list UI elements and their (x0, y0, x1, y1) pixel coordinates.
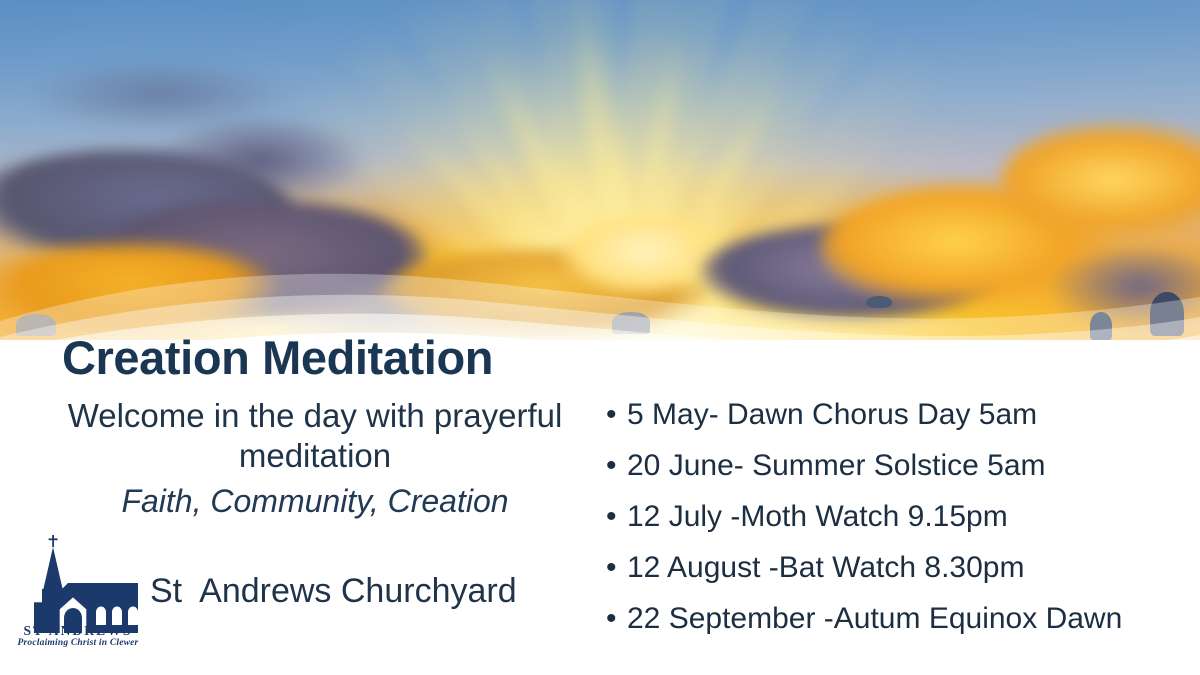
tagline-text: Faith, Community, Creation (22, 481, 608, 521)
venue-text: St Andrews Churchyard (150, 572, 610, 611)
bullet-icon: • (606, 604, 627, 634)
list-item: • 22 September -Autum Equinox Dawn (606, 604, 1200, 634)
list-item-label: 12 August -Bat Watch 8.30pm (627, 553, 1024, 583)
lead-text: Welcome in the day with prayerful medita… (22, 396, 608, 477)
event-list: • 5 May- Dawn Chorus Day 5am • 20 June- … (606, 400, 1200, 655)
list-item-label: 20 June- Summer Solstice 5am (627, 451, 1046, 481)
bullet-icon: • (606, 553, 627, 583)
list-item: • 12 July -Moth Watch 9.15pm (606, 502, 1200, 532)
list-item-label: 12 July -Moth Watch 9.15pm (627, 502, 1008, 532)
list-item: • 5 May- Dawn Chorus Day 5am (606, 400, 1200, 430)
intro-block: Welcome in the day with prayerful medita… (22, 396, 608, 521)
page-title: Creation Meditation (62, 332, 493, 384)
logo-tagline: Proclaiming Christ in Clewer (12, 638, 144, 648)
bullet-icon: • (606, 502, 627, 532)
list-item-label: 5 May- Dawn Chorus Day 5am (627, 400, 1037, 430)
list-item-label: 22 September -Autum Equinox Dawn (627, 604, 1122, 634)
bullet-icon: • (606, 400, 627, 430)
list-item: • 20 June- Summer Solstice 5am (606, 451, 1200, 481)
list-item: • 12 August -Bat Watch 8.30pm (606, 553, 1200, 583)
logo-name: ST ANDREWS (12, 623, 144, 639)
poster-canvas: Creation Meditation Welcome in the day w… (0, 0, 1200, 675)
bullet-icon: • (606, 451, 627, 481)
